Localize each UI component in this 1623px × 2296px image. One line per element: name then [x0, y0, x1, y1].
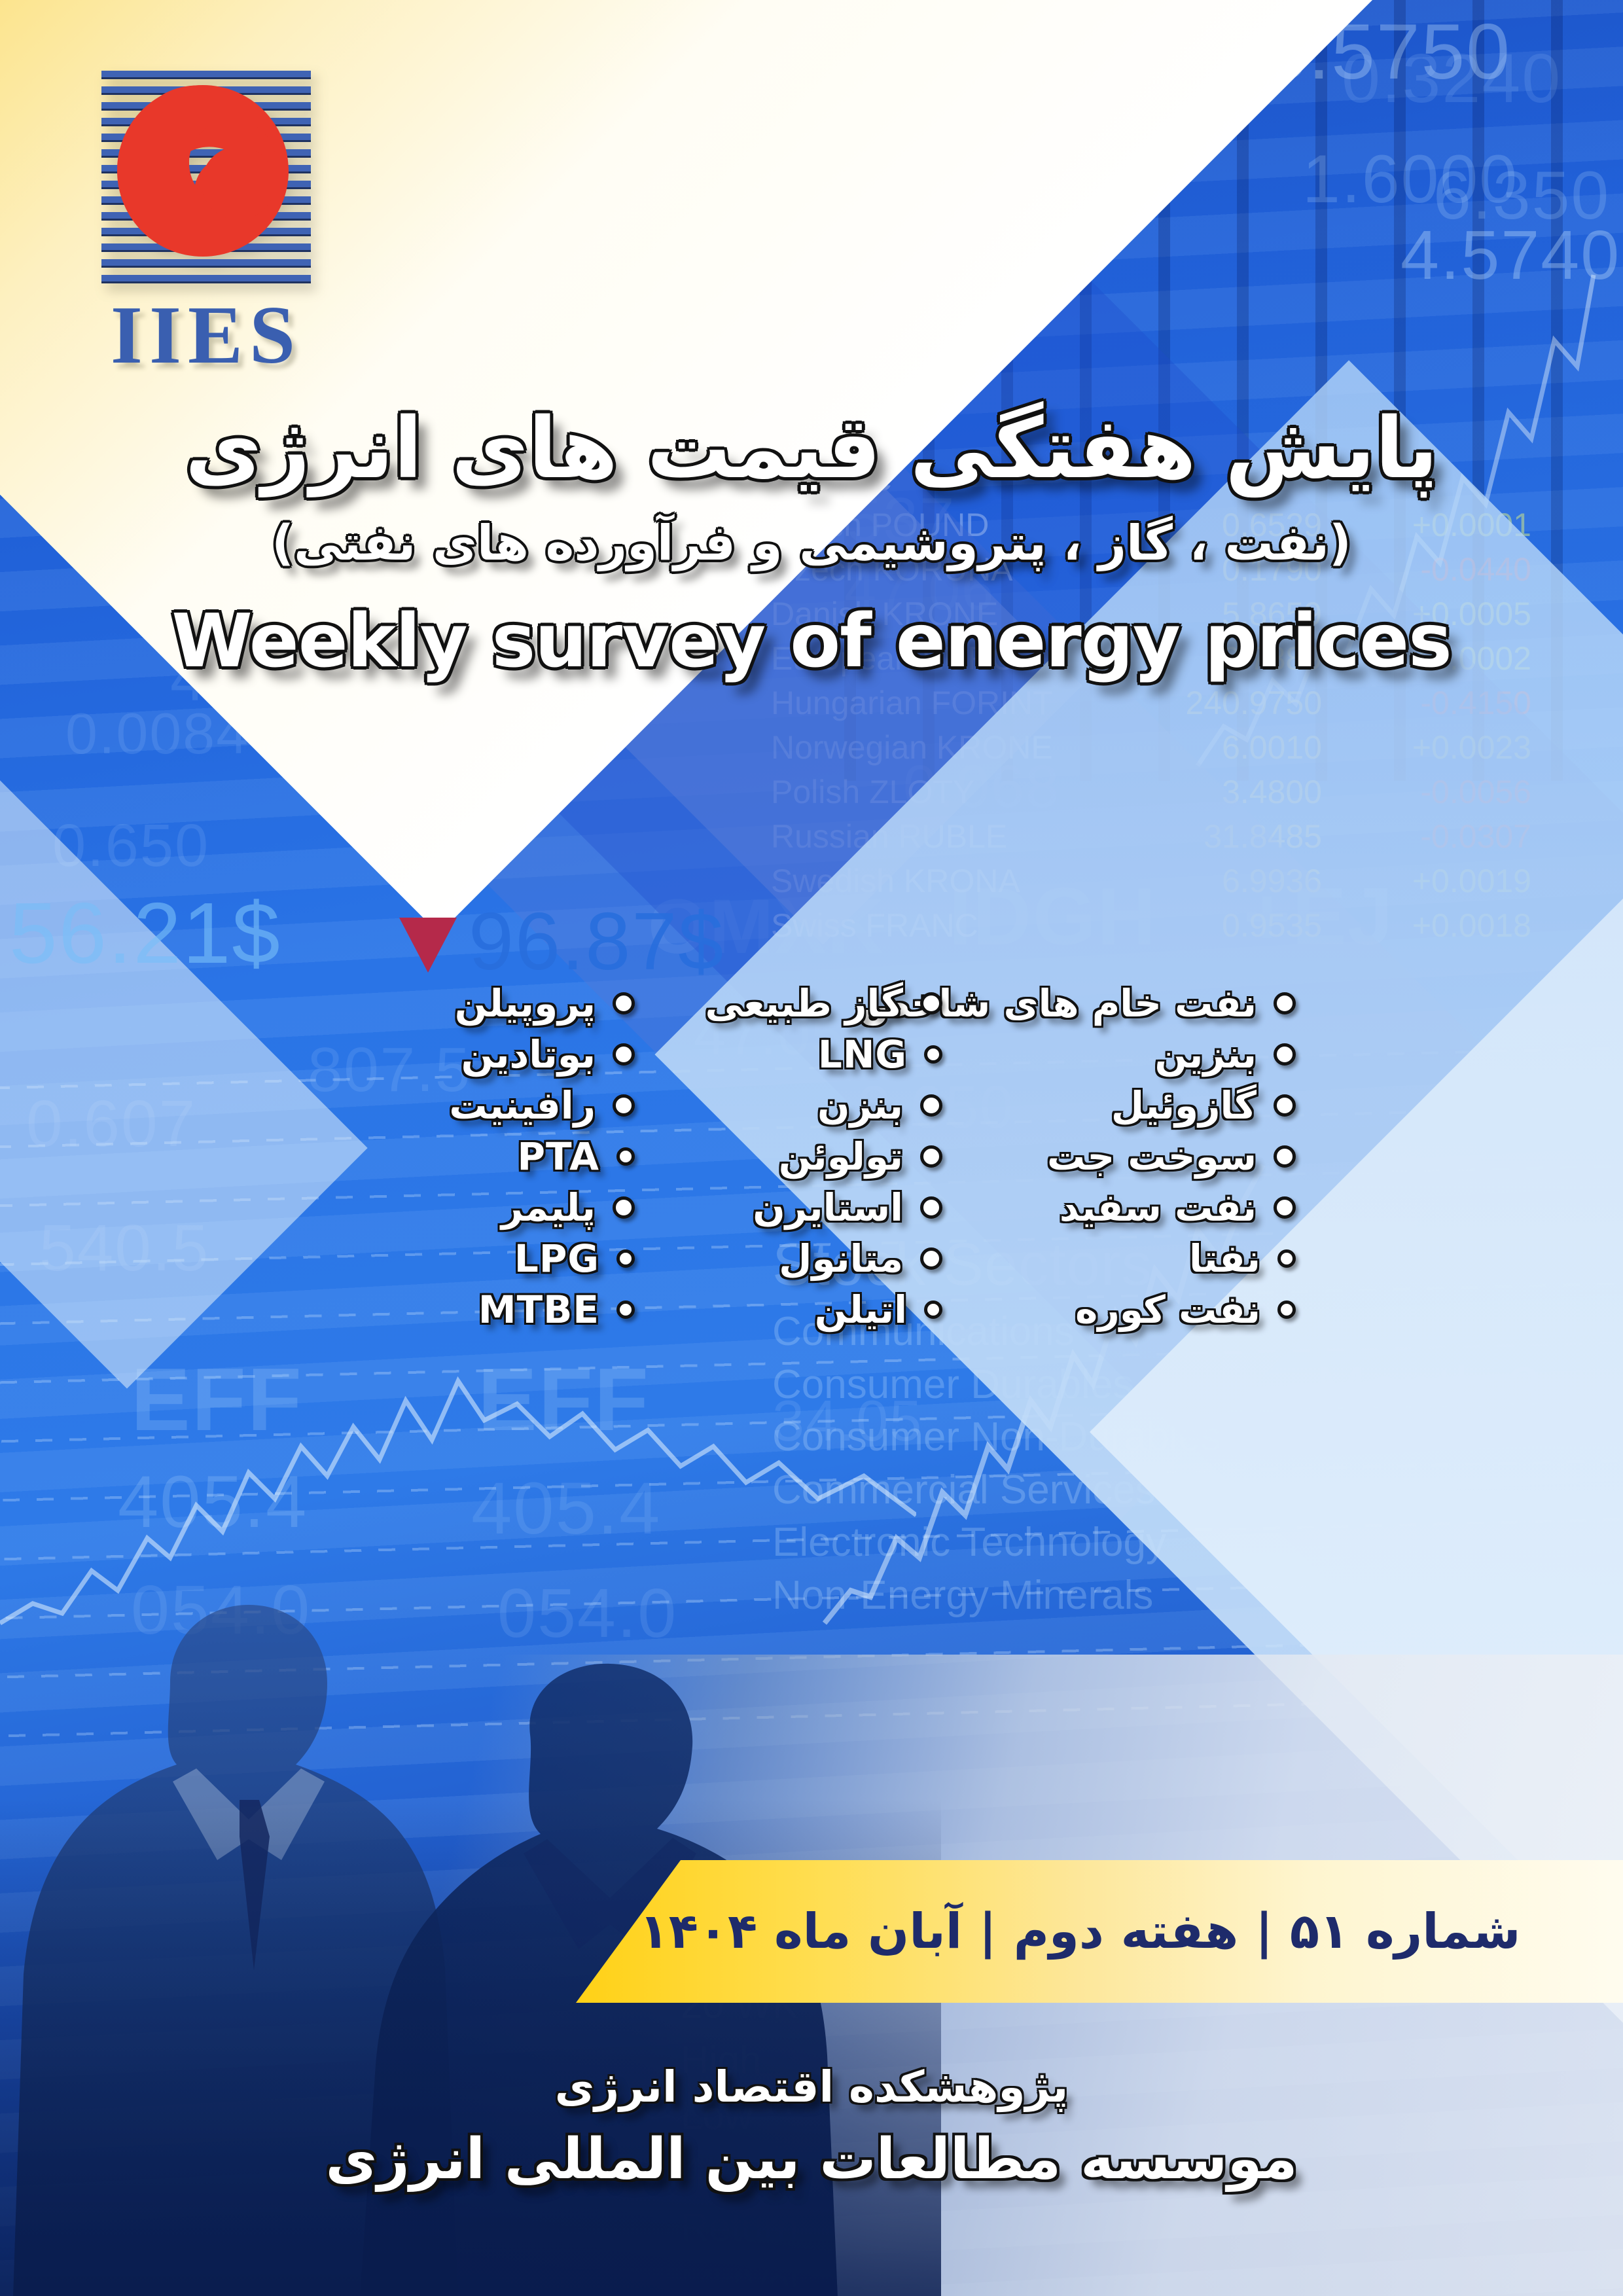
topic-label: نفت کوره: [1075, 1287, 1260, 1332]
bullet-dot-icon: [616, 1300, 635, 1319]
fx-change: +0.0018: [1322, 906, 1531, 944]
column-gas-aromatics: گاز طبیعی LNG بنزن تولوئن استایرن متانول: [635, 982, 942, 1331]
poster-cover: 3.5750 5.454 0.7540 7540.08 1.6000 6.350…: [0, 0, 1623, 2296]
fx-change: -0.4150: [1322, 684, 1531, 722]
topic-label: LPG: [514, 1236, 599, 1281]
list-item[interactable]: نفت خام های شاخص: [942, 982, 1296, 1025]
fx-currency-name: Norwegian KRONE: [759, 728, 1126, 766]
bullet-dot-icon: [924, 1045, 942, 1064]
ticker-quote-left: 56.21$: [9, 884, 281, 982]
list-item[interactable]: گازوئیل: [942, 1084, 1296, 1127]
bullet-dot-icon: [1274, 1196, 1296, 1219]
list-item[interactable]: پروپیلن: [327, 982, 635, 1025]
topic-label: پروپیلن: [455, 981, 596, 1026]
list-item[interactable]: MTBE: [327, 1288, 635, 1331]
issue-banner: شماره ۵۱ | هفته دوم | آبان ماه ۱۴۰۴: [576, 1860, 1623, 2003]
page-subtitle-fa: (نفت ، گاز ، پتروشیمی و فرآورده های نفتی…: [92, 515, 1531, 571]
bullet-dot-icon: [920, 1247, 942, 1270]
fx-currency-name: Swedish KRONA: [759, 862, 1126, 900]
bullet-dot-icon: [1277, 1300, 1296, 1319]
bullet-dot-icon: [920, 1094, 942, 1117]
topic-label: نفتا: [1189, 1236, 1260, 1281]
topic-label: سوخت جت: [1047, 1134, 1257, 1179]
sector-item: Electronic Technology: [772, 1516, 1221, 1570]
topic-label: تولوئن: [779, 1134, 903, 1179]
fx-row: Russian RUBLE 31.8485 -0.0307: [759, 814, 1623, 859]
list-item[interactable]: پلیمر: [327, 1186, 635, 1229]
bullet-dot-icon: [616, 1249, 635, 1268]
sector-item: Non-Energy Minerals: [772, 1570, 1221, 1623]
fx-currency-name: Hungarian FORINT: [759, 684, 1126, 722]
list-item[interactable]: LPG: [327, 1237, 635, 1280]
bullet-dot-icon: [920, 992, 942, 1014]
topic-label: بنزین: [1154, 1032, 1257, 1077]
fx-value: 3.4800: [1126, 773, 1322, 811]
fx-value: 6.9936: [1126, 862, 1322, 900]
bullet-dot-icon: [1274, 992, 1296, 1014]
fx-currency-name: Polish ZLOTY: [759, 773, 1126, 811]
topic-label: MTBE: [478, 1287, 599, 1332]
fx-change: +0.0023: [1322, 728, 1531, 766]
list-item[interactable]: نفت کوره: [942, 1288, 1296, 1331]
list-item[interactable]: بنزین: [942, 1033, 1296, 1076]
list-item[interactable]: تولوئن: [635, 1135, 942, 1178]
sector-item: Commercial Services: [772, 1464, 1221, 1517]
list-item[interactable]: نفتا: [942, 1237, 1296, 1280]
footer-block: پژوهشکده اقتصاد انرژی موسسه مطالعات بین …: [0, 2062, 1623, 2192]
list-item[interactable]: نفت سفید: [942, 1186, 1296, 1229]
list-item[interactable]: گاز طبیعی: [635, 982, 942, 1025]
fx-change: -0.0056: [1322, 773, 1531, 811]
fx-row: Hungarian FORINT 240.9750 -0.4150: [759, 681, 1623, 725]
iies-logo-mark: [101, 71, 311, 287]
footer-institute-line1: پژوهشکده اقتصاد انرژی: [0, 2062, 1623, 2112]
fx-row: Norwegian KRONE 6.0010 +0.0023: [759, 725, 1623, 770]
topic-label: گازوئیل: [1111, 1083, 1257, 1128]
fx-change: -0.0307: [1322, 817, 1531, 855]
page-title-fa: پایش هفتگی قیمت های انرژی: [92, 399, 1531, 498]
issue-banner-text: شماره ۵۱ | هفته دوم | آبان ماه ۱۴۰۴: [639, 1903, 1521, 1960]
list-item[interactable]: اتیلن: [635, 1288, 942, 1331]
bullet-dot-icon: [1274, 1043, 1296, 1066]
fx-row: Swedish KRONA 6.9936 +0.0019: [759, 859, 1623, 903]
ticker-quote-right: 96.87$: [469, 895, 724, 988]
topic-label: گاز طبیعی: [705, 981, 904, 1026]
topic-label: اتیلن: [815, 1287, 907, 1332]
bullet-dot-icon: [920, 1196, 942, 1219]
ticker-quote-right-group: 96.87$: [399, 895, 724, 988]
fx-value: 6.0010: [1126, 728, 1322, 766]
bullet-dot-icon: [1274, 1094, 1296, 1117]
list-item[interactable]: متانول: [635, 1237, 942, 1280]
column-crude-products: نفت خام های شاخص بنزین گازوئیل سوخت جت ن…: [942, 982, 1296, 1331]
column-petrochemicals: پروپیلن بوتادین رافینیت PTA پلیمر LPG: [327, 982, 635, 1331]
topic-label: LNG: [818, 1032, 907, 1077]
footer-institute-line2: موسسه مطالعات بین المللی انرژی: [0, 2126, 1623, 2192]
bullet-dot-icon: [613, 992, 635, 1014]
bullet-dot-icon: [920, 1145, 942, 1168]
topic-label: متانول: [779, 1236, 903, 1281]
list-item[interactable]: سوخت جت: [942, 1135, 1296, 1178]
list-item[interactable]: رافینیت: [327, 1084, 635, 1127]
sector-item: Consumer Non-Durables: [772, 1411, 1221, 1464]
bullet-dot-icon: [613, 1094, 635, 1117]
list-item[interactable]: بنزن: [635, 1084, 942, 1127]
topic-label: بوتادین: [461, 1032, 596, 1077]
iies-logo: IIES: [101, 71, 311, 377]
fx-value: 0.9535: [1126, 906, 1322, 944]
fx-row: Swiss FRANC 0.9535 +0.0018: [759, 903, 1623, 948]
fx-value: 31.8485: [1126, 817, 1322, 855]
topic-label: پلیمر: [501, 1185, 596, 1230]
list-item[interactable]: LNG: [635, 1033, 942, 1076]
fx-currency-name: Swiss FRANC: [759, 906, 1126, 944]
topic-label: بنزن: [817, 1083, 903, 1128]
list-item[interactable]: استایرن: [635, 1186, 942, 1229]
triangle-down-icon: [399, 918, 457, 973]
bullet-dot-icon: [613, 1196, 635, 1219]
fx-change: +0.0019: [1322, 862, 1531, 900]
bullet-dot-icon: [616, 1147, 635, 1166]
topic-label: نفت سفید: [1060, 1185, 1257, 1230]
iies-wordmark: IIES: [101, 295, 311, 377]
topic-label: PTA: [518, 1134, 599, 1179]
bullet-dot-icon: [924, 1300, 942, 1319]
page-title-en: Weekly survey of energy prices: [92, 599, 1531, 684]
fx-currency-name: Russian RUBLE: [759, 817, 1126, 855]
bullet-dot-icon: [1274, 1145, 1296, 1168]
topic-label: رافینیت: [449, 1083, 596, 1128]
list-item[interactable]: PTA: [327, 1135, 635, 1178]
topics-columns: نفت خام های شاخص بنزین گازوئیل سوخت جت ن…: [0, 982, 1623, 1331]
title-block: پایش هفتگی قیمت های انرژی (نفت ، گاز ، پ…: [0, 399, 1623, 684]
logo-crescent-shape-icon: [117, 85, 289, 257]
list-item[interactable]: بوتادین: [327, 1033, 635, 1076]
sector-item: Consumer Durables: [772, 1359, 1221, 1412]
bullet-dot-icon: [1277, 1249, 1296, 1268]
topic-label: استایرن: [753, 1185, 903, 1230]
bullet-dot-icon: [613, 1043, 635, 1066]
fx-value: 240.9750: [1126, 684, 1322, 722]
fx-row: Polish ZLOTY 3.4800 -0.0056: [759, 770, 1623, 814]
